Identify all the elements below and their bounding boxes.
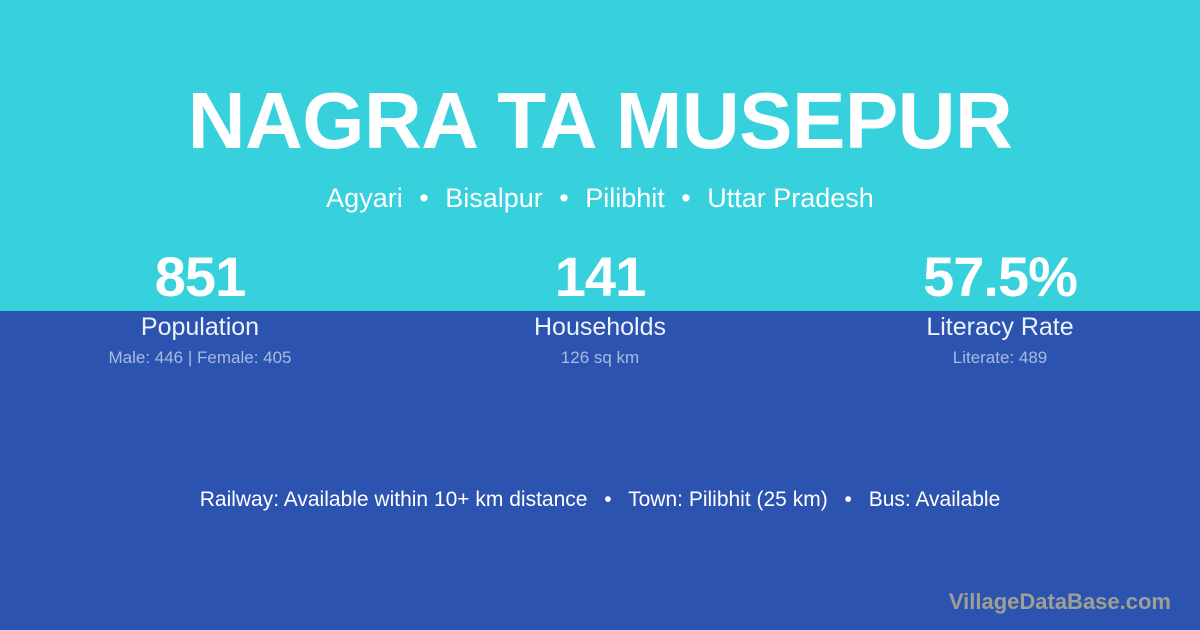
stat-subtext: Literate: 489 (800, 348, 1200, 368)
breadcrumb-item-state: Uttar Pradesh (707, 183, 874, 213)
stat-literacy-rate: 57.5% Literacy Rate Literate: 489 (800, 243, 1200, 368)
village-info-card: NAGRA TA MUSEPUR Agyari • Bisalpur • Pil… (0, 0, 1200, 630)
card-header: NAGRA TA MUSEPUR Agyari • Bisalpur • Pil… (0, 0, 1200, 212)
stat-label: Households (400, 313, 800, 342)
breadcrumb-item-block: Agyari (326, 183, 403, 213)
stat-label: Literacy Rate (800, 313, 1200, 342)
stat-households: 141 Households 126 sq km (400, 243, 800, 368)
amenity-bus: Bus: Available (869, 488, 1001, 511)
stats-row: 851 Population Male: 446 | Female: 405 1… (0, 243, 1200, 368)
breadcrumb-item-subdistrict: Bisalpur (445, 183, 543, 213)
stat-population: 851 Population Male: 446 | Female: 405 (0, 243, 400, 368)
amenity-town: Town: Pilibhit (25 km) (628, 488, 828, 511)
site-brand: VillageDataBase.com (949, 589, 1171, 615)
stat-value: 57.5% (800, 243, 1200, 310)
page-title: NAGRA TA MUSEPUR (0, 0, 1200, 161)
amenity-separator: • (593, 488, 622, 511)
stat-label: Population (0, 313, 400, 342)
amenity-railway: Railway: Available within 10+ km distanc… (200, 488, 588, 511)
stat-value: 851 (0, 243, 400, 310)
breadcrumb-separator: • (672, 183, 699, 213)
amenity-separator: • (834, 488, 863, 511)
stat-subtext: Male: 446 | Female: 405 (0, 348, 400, 368)
stat-value: 141 (400, 243, 800, 310)
breadcrumb-separator: • (410, 183, 437, 213)
breadcrumb-item-district: Pilibhit (585, 183, 665, 213)
stat-subtext: 126 sq km (400, 348, 800, 368)
breadcrumb: Agyari • Bisalpur • Pilibhit • Uttar Pra… (0, 161, 1200, 212)
amenities-row: Railway: Available within 10+ km distanc… (0, 485, 1200, 515)
breadcrumb-separator: • (550, 183, 577, 213)
